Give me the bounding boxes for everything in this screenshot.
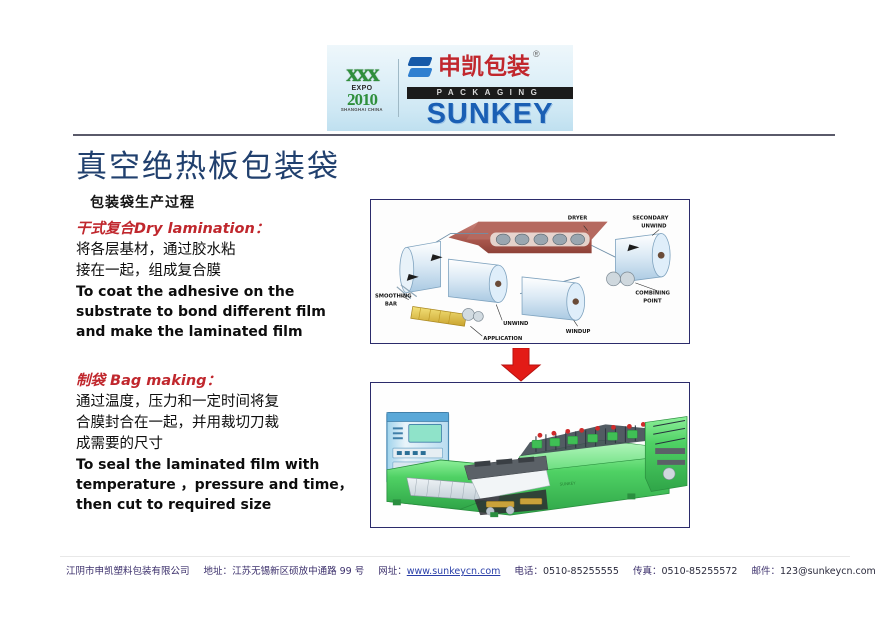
figure-label-dryer: DRYER bbox=[568, 216, 588, 222]
block-cn-line: 通过温度，压力和一定时间将复 bbox=[76, 392, 362, 413]
figure-label-windup: WINDUP bbox=[566, 329, 591, 335]
footer-tel-label: 电话： bbox=[514, 566, 543, 577]
footer-address: 江苏无锡新区硕放中通路 99 号 bbox=[232, 566, 364, 577]
block-cn-line: 成需要的尺寸 bbox=[76, 434, 362, 455]
footer-company: 江阴市申凯塑料包装有限公司 bbox=[66, 566, 190, 577]
footer-fax-label: 传真： bbox=[633, 566, 662, 577]
text-block-bag-making: 制袋 Bag making： 通过温度，压力和一定时间将复 合膜封合在一起，并用… bbox=[76, 372, 362, 515]
block-heading-dry-lamination: 干式复合Dry lamination： bbox=[76, 220, 362, 239]
footer-divider-rule bbox=[60, 556, 850, 557]
down-arrow-icon bbox=[500, 348, 542, 382]
sunkey-logo: 申凯包装 ® PACKAGING SUNKEY bbox=[403, 45, 573, 131]
expo-year: 2010 bbox=[347, 92, 377, 107]
block-en-line: To seal the laminated film with bbox=[76, 455, 362, 475]
block-heading-bag-making: 制袋 Bag making： bbox=[76, 372, 362, 391]
figure-label-smoothing-bar-2: BAR bbox=[385, 302, 397, 308]
footer-fax: 0510-85255572 bbox=[661, 566, 737, 577]
block-en-line: then cut to required size bbox=[76, 495, 362, 515]
figure-label-unwind: UNWIND bbox=[503, 321, 529, 327]
block-cn-line: 合膜封合在一起，并用裁切刀裁 bbox=[76, 413, 362, 434]
footer-contact-bar: 江阴市申凯塑料包装有限公司 地址：江苏无锡新区硕放中通路 99 号 网址：www… bbox=[66, 563, 876, 577]
expo-2010-logo: xxx EXPO 2010 SHANGHAI CHINA bbox=[327, 45, 397, 131]
expo-city: SHANGHAI CHINA bbox=[341, 107, 383, 112]
expo-mascot-icon: xxx bbox=[346, 64, 378, 84]
sunkey-s-mark-icon bbox=[407, 54, 434, 81]
figure-label-combining-point-2: POINT bbox=[643, 299, 662, 305]
figure-label-secondary-unwind-2: UNWIND bbox=[641, 224, 667, 230]
registered-trademark-icon: ® bbox=[533, 49, 540, 59]
block-cn-line: 接在一起，组成复合膜 bbox=[76, 261, 362, 282]
page-subtitle: 包装袋生产过程 bbox=[90, 192, 195, 212]
block-en-line: To coat the adhesive on the bbox=[76, 282, 362, 302]
footer-mail: 123@sunkeycn.com bbox=[780, 566, 876, 577]
dry-lamination-diagram: DRYER SECONDARY UNWIND SMOOTHING BAR UNW… bbox=[371, 200, 689, 343]
figure-dry-lamination: DRYER SECONDARY UNWIND SMOOTHING BAR UNW… bbox=[370, 199, 690, 344]
bag-making-machine-photo: SUNKEY bbox=[371, 383, 689, 527]
page-title: 真空绝热板包装袋 bbox=[76, 141, 340, 186]
text-block-dry-lamination: 干式复合Dry lamination： 将各层基材，通过胶水粘 接在一起，组成复… bbox=[76, 220, 362, 342]
footer-web-label: 网址： bbox=[378, 566, 407, 577]
sunkey-logo-top-row: 申凯包装 ® bbox=[407, 47, 573, 87]
logo-divider bbox=[398, 59, 399, 117]
footer-address-label: 地址： bbox=[204, 566, 233, 577]
footer-mail-label: 邮件： bbox=[751, 566, 780, 577]
machine-right-tower bbox=[645, 417, 687, 492]
figure-label-smoothing-bar: SMOOTHING bbox=[375, 294, 412, 300]
figure-label-combining-point: COMBINING bbox=[635, 291, 670, 297]
figure-label-application: APPLICATION bbox=[483, 336, 522, 342]
sunkey-chinese-name: 申凯包装 bbox=[438, 54, 530, 80]
block-cn-line: 将各层基材，通过胶水粘 bbox=[76, 240, 362, 261]
company-logo-banner: xxx EXPO 2010 SHANGHAI CHINA 申凯包装 ® PACK… bbox=[327, 45, 573, 131]
sunkey-brand-word: SUNKEY bbox=[407, 99, 573, 129]
block-en-line: and make the laminated film bbox=[76, 322, 362, 342]
header-divider-rule bbox=[73, 134, 835, 136]
block-en-line: substrate to bond different film bbox=[76, 302, 362, 322]
block-en-line: temperature ，pressure and time， bbox=[76, 475, 362, 495]
footer-website-link[interactable]: www.sunkeycn.com bbox=[407, 566, 501, 577]
footer-tel: 0510-85255555 bbox=[543, 566, 619, 577]
figure-label-secondary-unwind: SECONDARY bbox=[632, 216, 668, 222]
figure-bag-making-machine: SUNKEY bbox=[370, 382, 690, 528]
